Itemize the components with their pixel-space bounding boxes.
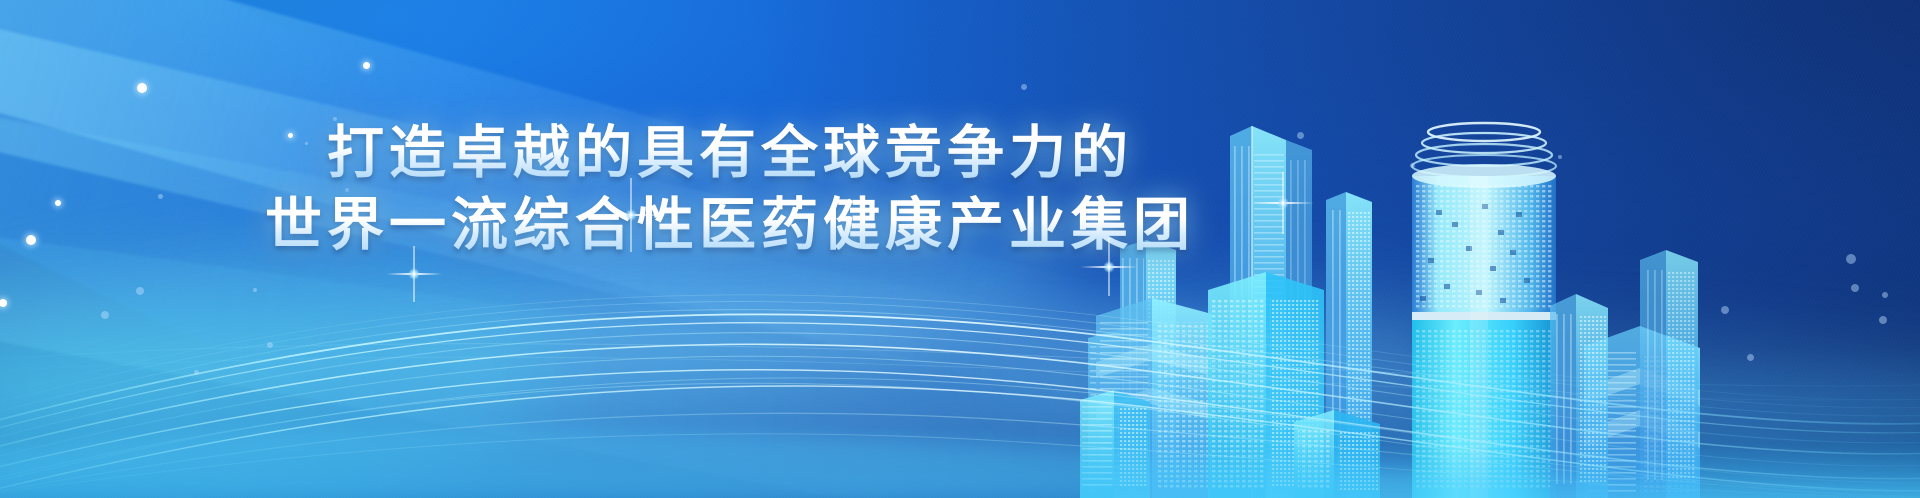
headline-line-2: 世界一流综合性医药健康产业集团 [0, 190, 1460, 262]
headline-line-1: 打造卓越的具有全球竞争力的 [0, 118, 1460, 190]
headline-block: 打造卓越的具有全球竞争力的 世界一流综合性医药健康产业集团 [0, 118, 1460, 262]
particle-dot [363, 62, 370, 69]
particle-dot [1021, 84, 1027, 90]
particle-dot [137, 83, 147, 93]
hero-banner: 打造卓越的具有全球竞争力的 世界一流综合性医药健康产业集团 [0, 0, 1920, 498]
